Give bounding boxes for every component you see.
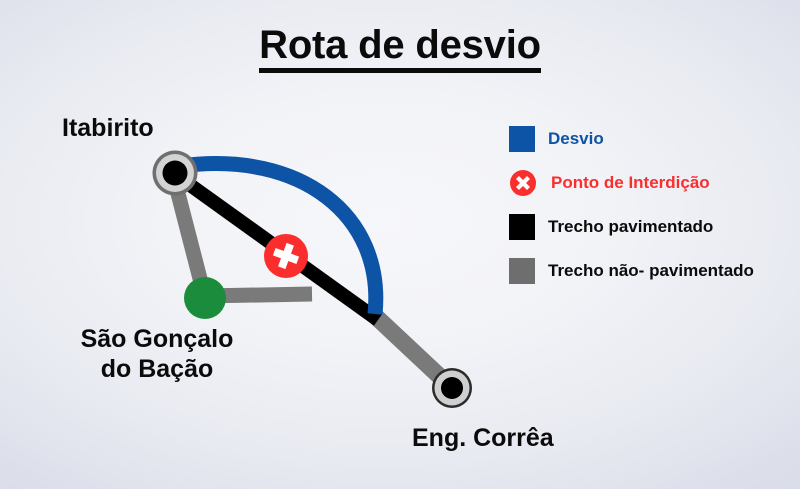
gray-square-icon [509,258,535,284]
legend-label-desvio: Desvio [548,130,604,149]
black-square-icon [509,214,535,240]
label-itabirito: Itabirito [62,114,154,144]
label-saogoncalo-line2: do Bação [42,355,272,385]
legend: Desvio Ponto de Interdição Trecho pavime… [509,122,794,298]
legend-item-trecho-pavimentado: Trecho pavimentado [509,210,794,244]
blue-square-icon [509,126,535,152]
red-circle-x-icon [509,169,537,197]
legend-label-ponto-interdicao: Ponto de Interdição [551,174,710,193]
legend-label-trecho-nao-pavimentado: Trecho não- pavimentado [548,262,754,281]
label-saogoncalo: São Gonçalo do Bação [42,325,272,384]
node-itabirito[interactable] [153,151,198,196]
legend-item-desvio: Desvio [509,122,794,156]
label-saogoncalo-line1: São Gonçalo [42,325,272,355]
label-engcorrea: Eng. Corrêa [412,424,554,454]
node-saogoncalo[interactable] [184,277,226,319]
legend-item-ponto-interdicao: Ponto de Interdição [509,166,794,200]
legend-item-trecho-nao-pavimentado: Trecho não- pavimentado [509,254,794,288]
marker-ponto-interdicao[interactable] [264,234,308,278]
diagram-canvas: Rota de desvio [0,0,800,489]
legend-label-trecho-pavimentado: Trecho pavimentado [548,218,713,237]
node-engcorrea[interactable] [432,368,472,408]
